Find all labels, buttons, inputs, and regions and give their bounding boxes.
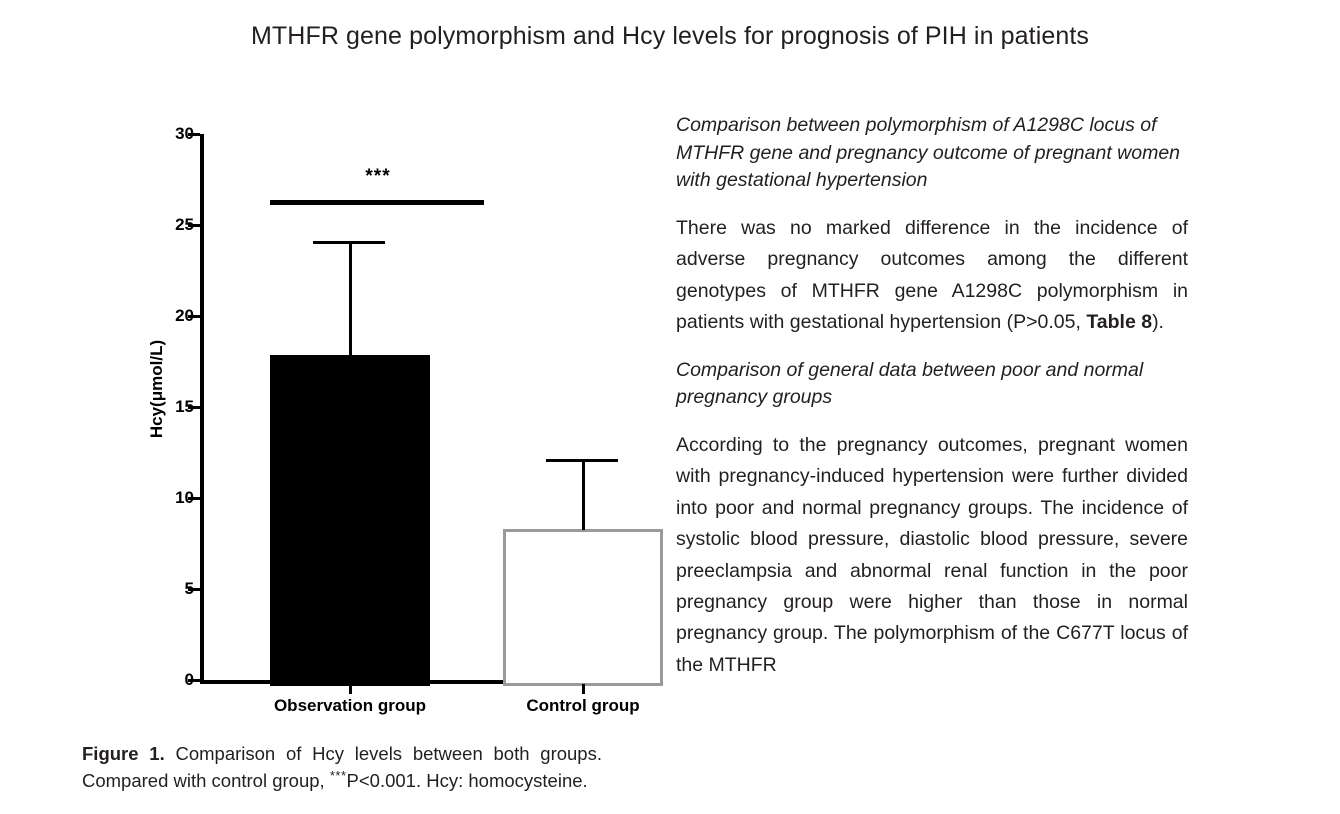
y-tick-label-30: 30 [175, 124, 194, 144]
significance-line [270, 200, 484, 205]
y-tick-label-20: 20 [175, 306, 194, 326]
paragraph-pregnancy-groups: According to the pregnancy outcomes, pre… [676, 430, 1188, 681]
page-title: MTHFR gene polymorphism and Hcy levels f… [0, 22, 1340, 51]
error-bar-stem-control-group [582, 460, 585, 530]
figure-caption-text-2: P<0.001. Hcy: homocysteine. [347, 770, 588, 791]
section-heading-a1298c: Comparison between polymorphism of A1298… [676, 112, 1188, 195]
figure-caption: Figure 1. Comparison of Hcy levels betwe… [82, 742, 602, 793]
section-heading-general-data: Comparison of general data between poor … [676, 357, 1188, 412]
x-tick-observation-group [349, 684, 352, 694]
y-tick-label-15: 15 [175, 397, 194, 417]
x-tick-label-control-group: Control group [526, 696, 639, 716]
y-tick-label-0: 0 [185, 670, 194, 690]
y-axis-line [200, 134, 204, 680]
figure-caption-stars: *** [330, 768, 347, 783]
table-8-reference: Table 8 [1086, 311, 1152, 333]
bar-observation-group [270, 355, 430, 686]
y-tick-label-5: 5 [185, 579, 194, 599]
paragraph-a1298c-text-2: ). [1152, 311, 1164, 333]
error-bar-stem-observation-group [349, 242, 352, 355]
error-bar-cap-control-group [546, 459, 618, 462]
figure-panel: Hcy(μmol/L) 0 5 10 15 20 [70, 110, 615, 810]
hcy-bar-chart: Hcy(μmol/L) 0 5 10 15 20 [70, 110, 615, 710]
x-tick-label-observation-group: Observation group [274, 696, 426, 716]
x-tick-control-group [582, 684, 585, 694]
figure-caption-label: Figure 1. [82, 743, 165, 764]
article-text-column: Comparison between polymorphism of A1298… [676, 112, 1188, 681]
chart-plot-area: Hcy(μmol/L) 0 5 10 15 20 [200, 124, 615, 690]
y-axis-title: Hcy(μmol/L) [147, 340, 167, 438]
significance-stars: *** [365, 166, 390, 188]
y-tick-label-25: 25 [175, 215, 194, 235]
y-tick-label-10: 10 [175, 488, 194, 508]
bar-control-group [503, 529, 663, 686]
error-bar-cap-observation-group [313, 241, 385, 244]
paragraph-a1298c-outcomes: There was no marked difference in the in… [676, 213, 1188, 339]
